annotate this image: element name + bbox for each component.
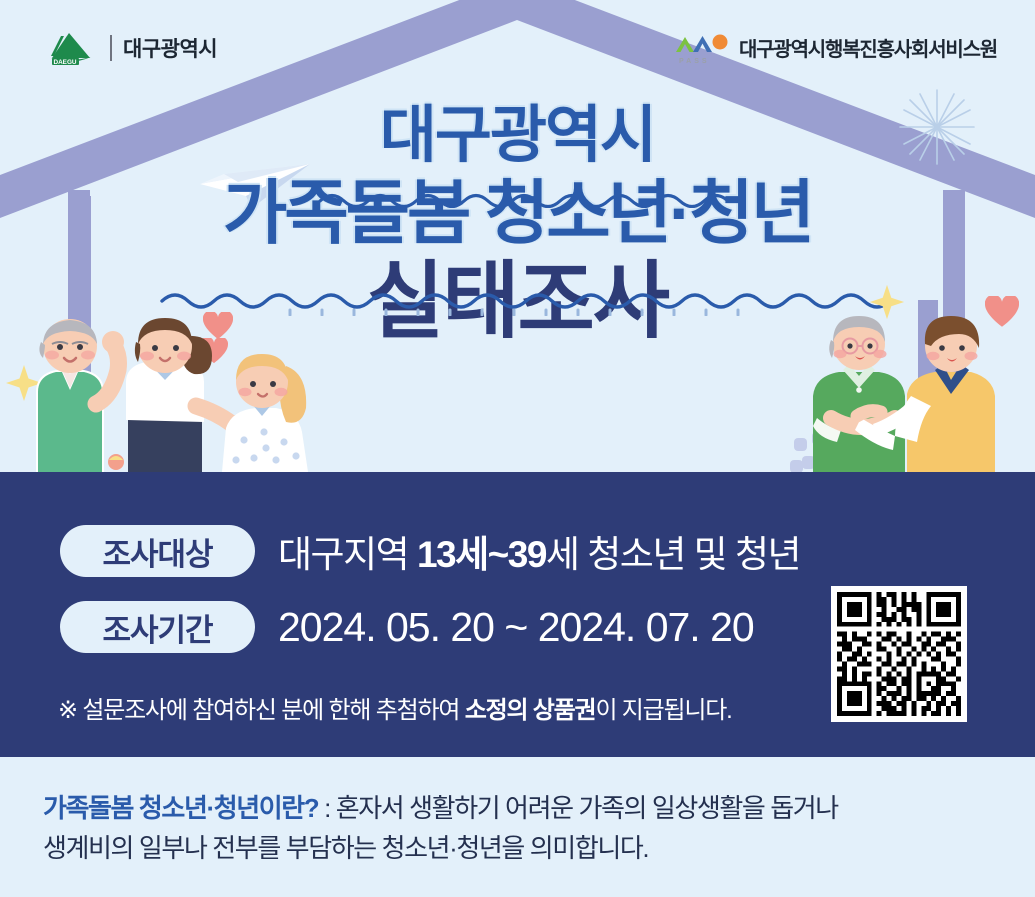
survey-note-pre: ※ 설문조사에 참여하신 분에 한해 추첨하여 — [58, 697, 465, 724]
qr-code-image — [837, 592, 961, 716]
definition-line-1: 가족돌봄 청소년·청년이란? : 혼자서 생활하기 어려운 가족의 일상생활을 … — [43, 788, 1003, 828]
daegu-mountain-logo: DAEGU — [45, 30, 99, 66]
survey-target-pill: 조사대상 — [60, 525, 255, 577]
character-grandfather — [36, 319, 124, 472]
survey-target-age-range: 13세~39 — [417, 534, 546, 575]
illustration-people-left — [0, 300, 320, 475]
survey-target-value-post: 세 청소년 및 청년 — [546, 534, 800, 575]
survey-target-value-pre: 대구지역 — [278, 534, 417, 575]
survey-note-highlight: 소정의 상품권 — [465, 697, 596, 724]
survey-period-pill: 조사기간 — [60, 601, 255, 653]
survey-target-row: 조사대상 대구지역 13세~39세 청소년 및 청년 — [60, 524, 800, 578]
survey-period-row: 조사기간 2024. 05. 20 ~ 2024. 07. 20 — [60, 601, 754, 653]
definition-lead: 가족돌봄 청소년·청년이란? — [43, 793, 318, 823]
pass-logo-label: 대구광역시행복진흥사회서비스원 — [739, 33, 997, 62]
pass-logo-wordmark: PASS — [679, 58, 710, 65]
survey-target-value: 대구지역 13세~39세 청소년 및 청년 — [278, 524, 800, 578]
character-child-girl — [222, 354, 308, 472]
wave-underline-top — [318, 190, 726, 208]
survey-qr-code[interactable] — [831, 586, 967, 722]
pass-logo: PASS — [673, 30, 729, 64]
survey-note-post: 이 지급됩니다. — [595, 697, 731, 724]
daegu-logo-group: DAEGU 대구광역시 — [45, 30, 217, 66]
daegu-logo-label: 대구광역시 — [123, 33, 217, 63]
pass-logo-group: PASS 대구광역시행복진흥사회서비스원 — [673, 30, 997, 64]
illustration-people-right — [795, 300, 1025, 475]
survey-note: ※ 설문조사에 참여하신 분에 한해 추첨하여 소정의 상품권이 지급됩니다. — [58, 690, 732, 725]
definition-line-2: 생계비의 일부나 전부를 부담하는 청소년·청년을 의미합니다. — [43, 828, 1003, 868]
daegu-logo-wordmark: DAEGU — [53, 59, 76, 66]
definition-block: 가족돌봄 청소년·청년이란? : 혼자서 생활하기 어려운 가족의 일상생활을 … — [43, 788, 1003, 869]
title-line-1: 대구광역시 — [0, 104, 1035, 167]
definition-line-1-rest: : 혼자서 생활하기 어려운 가족의 일상생활을 돕거나 — [318, 793, 838, 823]
title-line-2: 가족돌봄 청소년·청년 — [0, 177, 1035, 251]
poster-root: DAEGU 대구광역시 PASS 대구광역시행복진흥사회서비스원 — [0, 0, 1035, 897]
survey-period-value: 2024. 05. 20 ~ 2024. 07. 20 — [278, 604, 754, 651]
tick-rule — [286, 308, 756, 316]
logo-divider — [110, 35, 112, 61]
